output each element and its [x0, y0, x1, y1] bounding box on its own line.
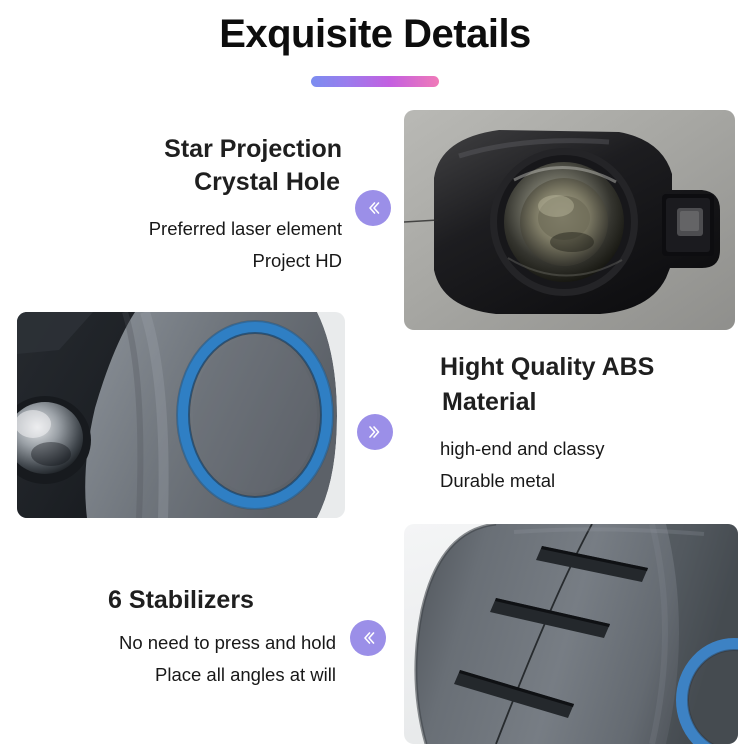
feature-subline-group: high-end and classy Durable metal [440, 433, 740, 497]
feature-headline-line1: Star Projection [30, 133, 342, 166]
feature-block-star-projection: Star Projection Crystal Hole Preferred l… [30, 133, 342, 277]
feature-subline-group: No need to press and hold Place all angl… [26, 627, 336, 691]
feature-subline-line2: Project HD [30, 245, 342, 277]
feature-subline-line2: Place all angles at will [26, 659, 336, 691]
title-underline-accent [311, 76, 439, 87]
feature-block-stabilizers: 6 Stabilizers No need to press and hold … [26, 584, 336, 691]
infographic-page: Exquisite Details [0, 0, 750, 750]
chevron-double-left-icon[interactable] [355, 190, 391, 226]
feature-headline-line1-highlighted: 6 Stabilizers [106, 584, 256, 617]
stabilizer-grooves-photo [404, 524, 738, 744]
feature-headline: 6 Stabilizers [26, 584, 336, 617]
projector-lens-photo [404, 110, 735, 330]
feature-subline-group: Preferred laser element Project HD [30, 213, 342, 277]
feature-subline-line1: Preferred laser element [30, 213, 342, 245]
feature-subline-line1: No need to press and hold [26, 627, 336, 659]
feature-subline-line1: high-end and classy [440, 433, 740, 465]
feature-headline: Star Projection Crystal Hole [30, 133, 342, 199]
chevron-double-left-icon[interactable] [350, 620, 386, 656]
page-title: Exquisite Details [0, 12, 750, 57]
feature-block-abs-material: Hight Quality ABS Material high-end and … [440, 350, 740, 497]
chevron-double-right-icon[interactable] [357, 414, 393, 450]
feature-headline-line2-highlighted: Crystal Hole [192, 166, 342, 199]
feature-headline: Hight Quality ABS Material [440, 350, 740, 419]
blue-accent-ring-photo [17, 312, 345, 518]
feature-headline-line1: Hight Quality ABS [440, 350, 740, 385]
feature-headline-line2-highlighted: Material [440, 385, 538, 420]
feature-subline-line2: Durable metal [440, 465, 740, 497]
